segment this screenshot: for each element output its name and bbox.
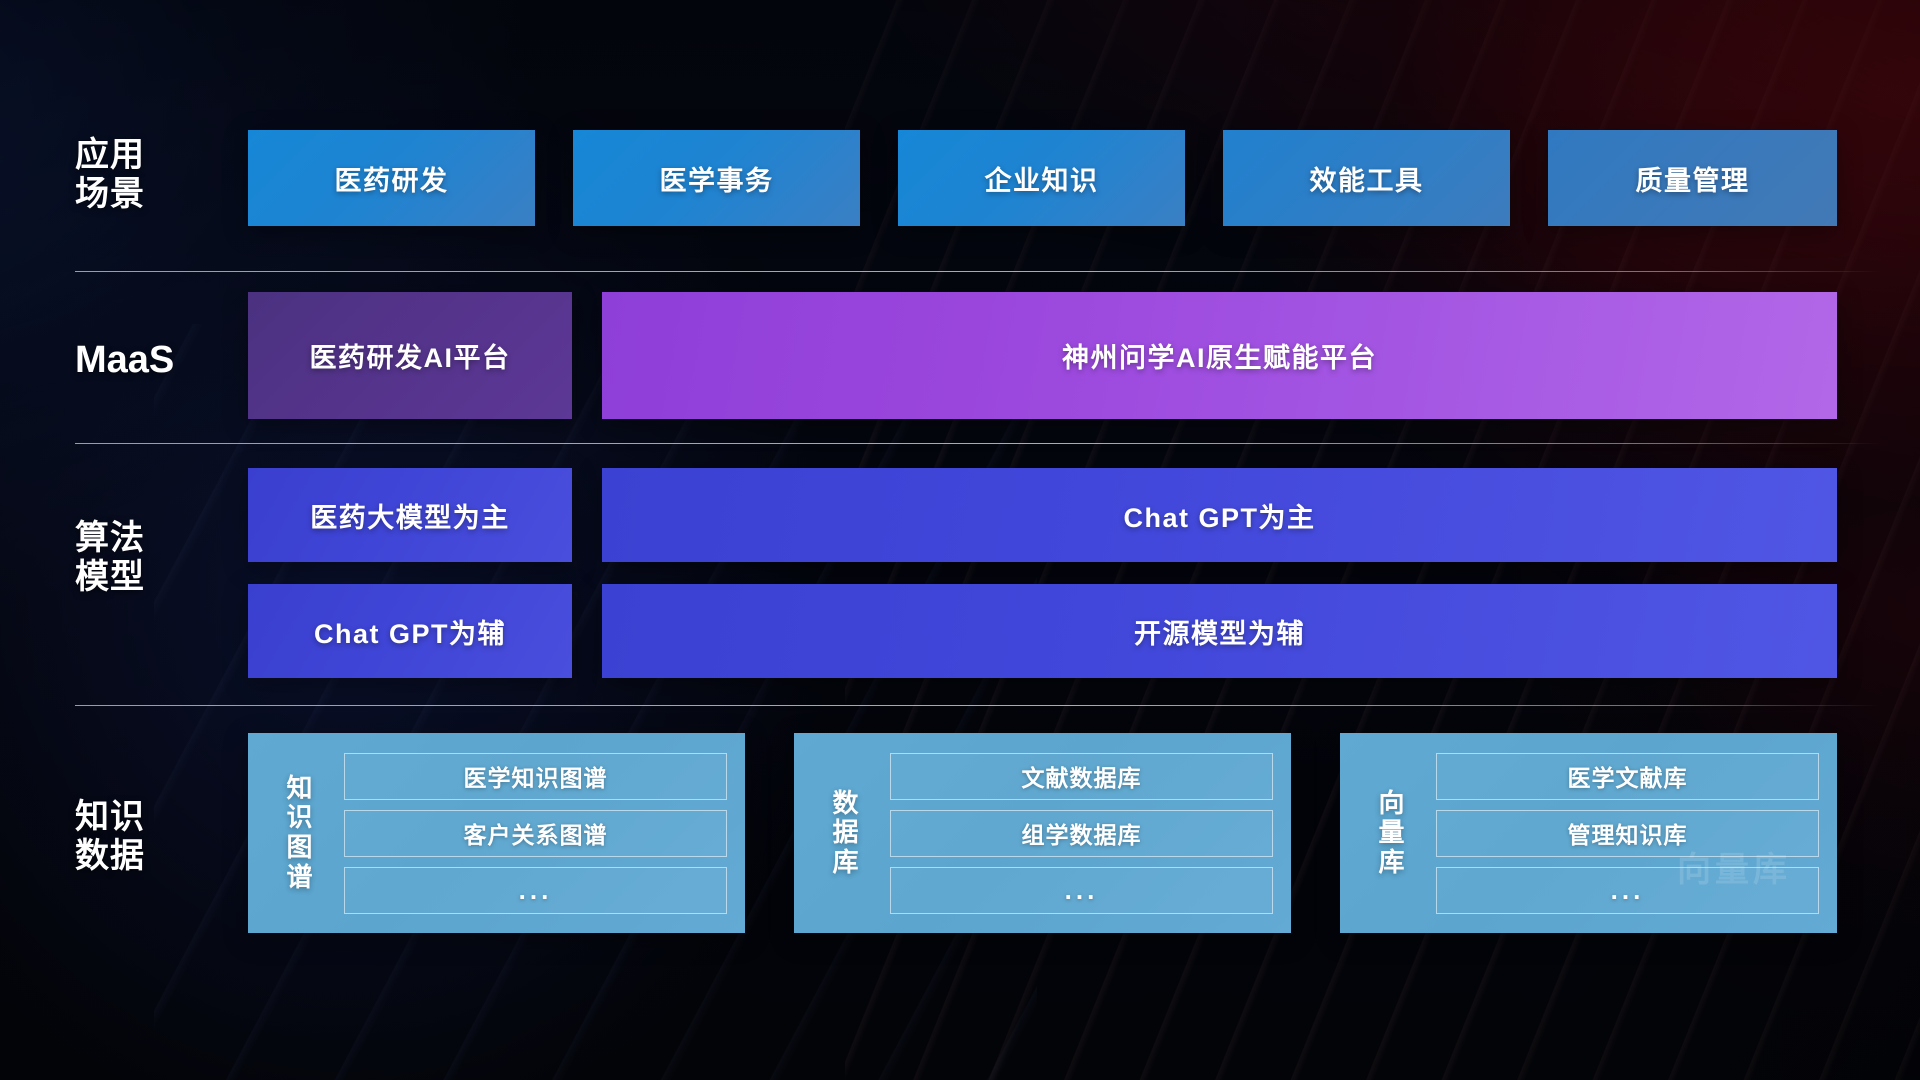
algo-card-chatgpt-primary-label: Chat GPT为主 — [1123, 496, 1315, 535]
app-card-drug-rnd-label: 医药研发 — [335, 159, 449, 198]
knowledge-block-knowledge-graph-items: 医学知识图谱 客户关系图谱 ... — [344, 753, 727, 914]
knowledge-block-database-items: 文献数据库 组学数据库 ... — [890, 753, 1273, 914]
divider-3 — [75, 705, 1880, 706]
algo-card-opensource-secondary[interactable]: 开源模型为辅 — [602, 584, 1837, 678]
knowledge-block-database-title: 数 据 库 — [816, 789, 876, 878]
divider-2 — [75, 443, 1880, 444]
row-label-algorithm-model: 算法 模型 — [75, 519, 195, 598]
knowledge-block-knowledge-graph[interactable]: 知 识 图 谱 医学知识图谱 客户关系图谱 ... — [248, 733, 745, 933]
app-card-efficiency-tools[interactable]: 效能工具 — [1223, 130, 1510, 226]
knowledge-block-database[interactable]: 数 据 库 文献数据库 组学数据库 ... — [794, 733, 1291, 933]
knowledge-item-management-knowledge-store[interactable]: 管理知识库 — [1436, 810, 1819, 857]
algo-card-pharma-llm-primary[interactable]: 医药大模型为主 — [248, 468, 572, 562]
app-card-enterprise-knowledge-label: 企业知识 — [985, 159, 1099, 198]
algo-card-pharma-llm-primary-label: 医药大模型为主 — [310, 496, 510, 535]
knowledge-item-medical-knowledge-graph[interactable]: 医学知识图谱 — [344, 753, 727, 800]
app-card-drug-rnd[interactable]: 医药研发 — [248, 130, 535, 226]
knowledge-item-customer-relation-graph[interactable]: 客户关系图谱 — [344, 810, 727, 857]
algo-card-chatgpt-secondary-label: Chat GPT为辅 — [314, 612, 506, 651]
row-label-application-scenarios: 应用 场景 — [75, 136, 195, 215]
row-label-knowledge-data: 知识 数据 — [75, 798, 195, 877]
algo-card-chatgpt-primary[interactable]: Chat GPT为主 — [602, 468, 1837, 562]
knowledge-item-more-db[interactable]: ... — [890, 867, 1273, 914]
knowledge-item-literature-database[interactable]: 文献数据库 — [890, 753, 1273, 800]
maas-card-shenzhou-wenxue-platform-label: 神州问学AI原生赋能平台 — [1062, 336, 1377, 375]
row-label-maas: MaaS — [75, 338, 195, 382]
maas-card-drug-rnd-ai-platform-label: 医药研发AI平台 — [310, 336, 511, 375]
knowledge-block-vector-store[interactable]: 向 量 库 医学文献库 管理知识库 ... 向量库 — [1340, 733, 1837, 933]
knowledge-block-vector-store-items: 医学文献库 管理知识库 ... — [1436, 753, 1819, 914]
knowledge-item-more-kg[interactable]: ... — [344, 867, 727, 914]
knowledge-block-knowledge-graph-title: 知 识 图 谱 — [270, 774, 330, 893]
app-card-medical-affairs-label: 医学事务 — [660, 159, 774, 198]
app-card-medical-affairs[interactable]: 医学事务 — [573, 130, 860, 226]
maas-card-drug-rnd-ai-platform[interactable]: 医药研发AI平台 — [248, 292, 572, 419]
knowledge-block-vector-store-title: 向 量 库 — [1362, 789, 1422, 878]
knowledge-item-medical-literature-store[interactable]: 医学文献库 — [1436, 753, 1819, 800]
app-card-efficiency-tools-label: 效能工具 — [1310, 159, 1424, 198]
app-card-quality-management[interactable]: 质量管理 — [1548, 130, 1837, 226]
algo-card-chatgpt-secondary[interactable]: Chat GPT为辅 — [248, 584, 572, 678]
architecture-diagram: 应用 场景 医药研发 医学事务 企业知识 效能工具 质量管理 MaaS 医药研发… — [0, 0, 1920, 1080]
algo-card-opensource-secondary-label: 开源模型为辅 — [1134, 612, 1305, 651]
maas-card-shenzhou-wenxue-platform[interactable]: 神州问学AI原生赋能平台 — [602, 292, 1837, 419]
app-card-enterprise-knowledge[interactable]: 企业知识 — [898, 130, 1185, 226]
app-card-quality-management-label: 质量管理 — [1636, 159, 1750, 198]
divider-1 — [75, 271, 1880, 272]
knowledge-item-more-vec[interactable]: ... — [1436, 867, 1819, 914]
knowledge-item-omics-database[interactable]: 组学数据库 — [890, 810, 1273, 857]
